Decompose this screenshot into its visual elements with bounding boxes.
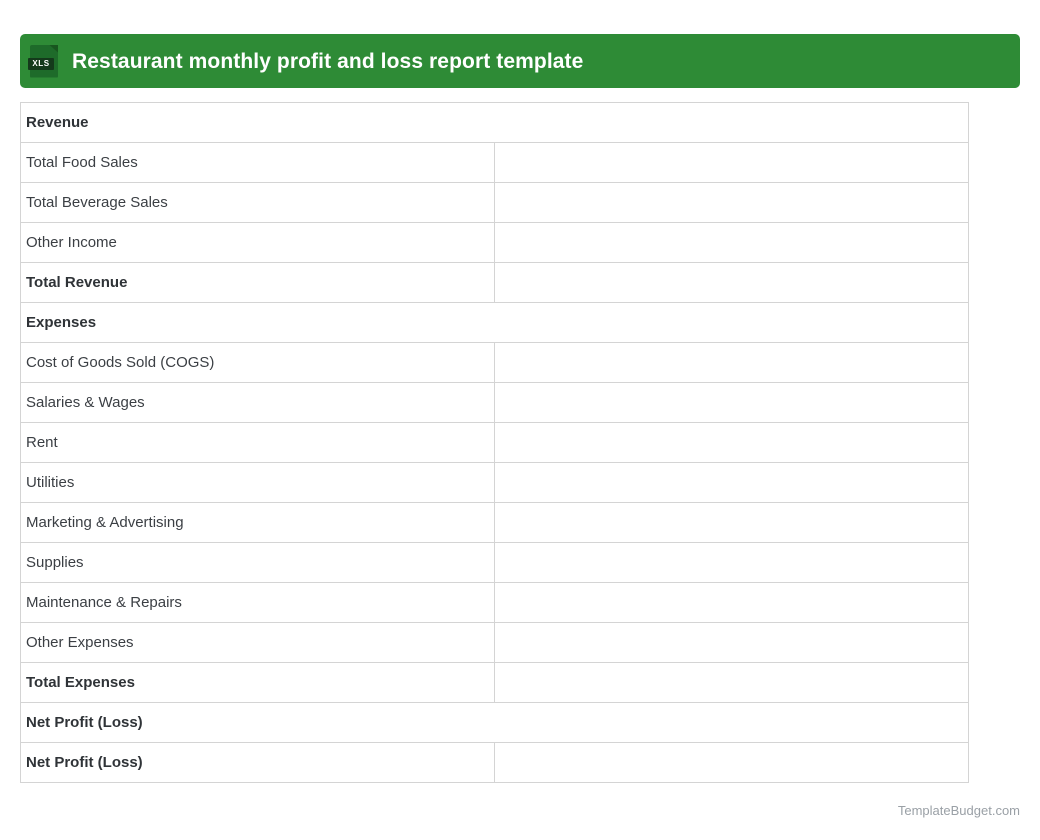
table-row: Cost of Goods Sold (COGS) <box>21 343 969 383</box>
row-value-cell[interactable] <box>495 623 969 663</box>
page-title: Restaurant monthly profit and loss repor… <box>72 51 583 72</box>
table-row: Other Expenses <box>21 623 969 663</box>
table-row: Marketing & Advertising <box>21 503 969 543</box>
row-label-cell: Revenue <box>21 103 969 143</box>
row-value-cell[interactable] <box>495 263 969 303</box>
row-value-cell[interactable] <box>495 543 969 583</box>
row-label-cell: Total Beverage Sales <box>21 183 495 223</box>
row-value-cell[interactable] <box>495 463 969 503</box>
report-header-bar: XLS Restaurant monthly profit and loss r… <box>20 34 1020 88</box>
table-row: Total Beverage Sales <box>21 183 969 223</box>
row-label-cell: Supplies <box>21 543 495 583</box>
template-page: XLS Restaurant monthly profit and loss r… <box>0 0 1040 840</box>
row-value-cell[interactable] <box>495 583 969 623</box>
table-row: Utilities <box>21 463 969 503</box>
row-value-cell[interactable] <box>495 383 969 423</box>
row-label-cell: Cost of Goods Sold (COGS) <box>21 343 495 383</box>
table-row: Total Expenses <box>21 663 969 703</box>
profit-loss-table: RevenueTotal Food SalesTotal Beverage Sa… <box>20 102 969 783</box>
row-label-cell: Total Expenses <box>21 663 495 703</box>
row-value-cell[interactable] <box>495 503 969 543</box>
row-label-cell: Net Profit (Loss) <box>21 703 969 743</box>
row-value-cell[interactable] <box>495 423 969 463</box>
row-value-cell[interactable] <box>495 743 969 783</box>
table-row: Net Profit (Loss) <box>21 703 969 743</box>
profit-loss-table-body: RevenueTotal Food SalesTotal Beverage Sa… <box>21 103 969 783</box>
row-label-cell: Total Food Sales <box>21 143 495 183</box>
table-row: Maintenance & Repairs <box>21 583 969 623</box>
row-value-cell[interactable] <box>495 183 969 223</box>
table-row: Other Income <box>21 223 969 263</box>
table-row: Salaries & Wages <box>21 383 969 423</box>
row-label-cell: Utilities <box>21 463 495 503</box>
row-label-cell: Other Income <box>21 223 495 263</box>
row-label-cell: Marketing & Advertising <box>21 503 495 543</box>
row-label-cell: Other Expenses <box>21 623 495 663</box>
table-row: Supplies <box>21 543 969 583</box>
xls-file-label: XLS <box>28 58 54 70</box>
row-label-cell: Expenses <box>21 303 969 343</box>
row-value-cell[interactable] <box>495 343 969 383</box>
row-value-cell[interactable] <box>495 143 969 183</box>
row-value-cell[interactable] <box>495 223 969 263</box>
table-row: Total Food Sales <box>21 143 969 183</box>
xls-file-icon: XLS <box>30 45 58 78</box>
row-label-cell: Total Revenue <box>21 263 495 303</box>
table-row: Expenses <box>21 303 969 343</box>
table-row: Revenue <box>21 103 969 143</box>
table-row: Rent <box>21 423 969 463</box>
table-row: Net Profit (Loss) <box>21 743 969 783</box>
footer-attribution: TemplateBudget.com <box>898 803 1020 818</box>
row-label-cell: Maintenance & Repairs <box>21 583 495 623</box>
row-label-cell: Rent <box>21 423 495 463</box>
row-value-cell[interactable] <box>495 663 969 703</box>
table-row: Total Revenue <box>21 263 969 303</box>
row-label-cell: Net Profit (Loss) <box>21 743 495 783</box>
row-label-cell: Salaries & Wages <box>21 383 495 423</box>
